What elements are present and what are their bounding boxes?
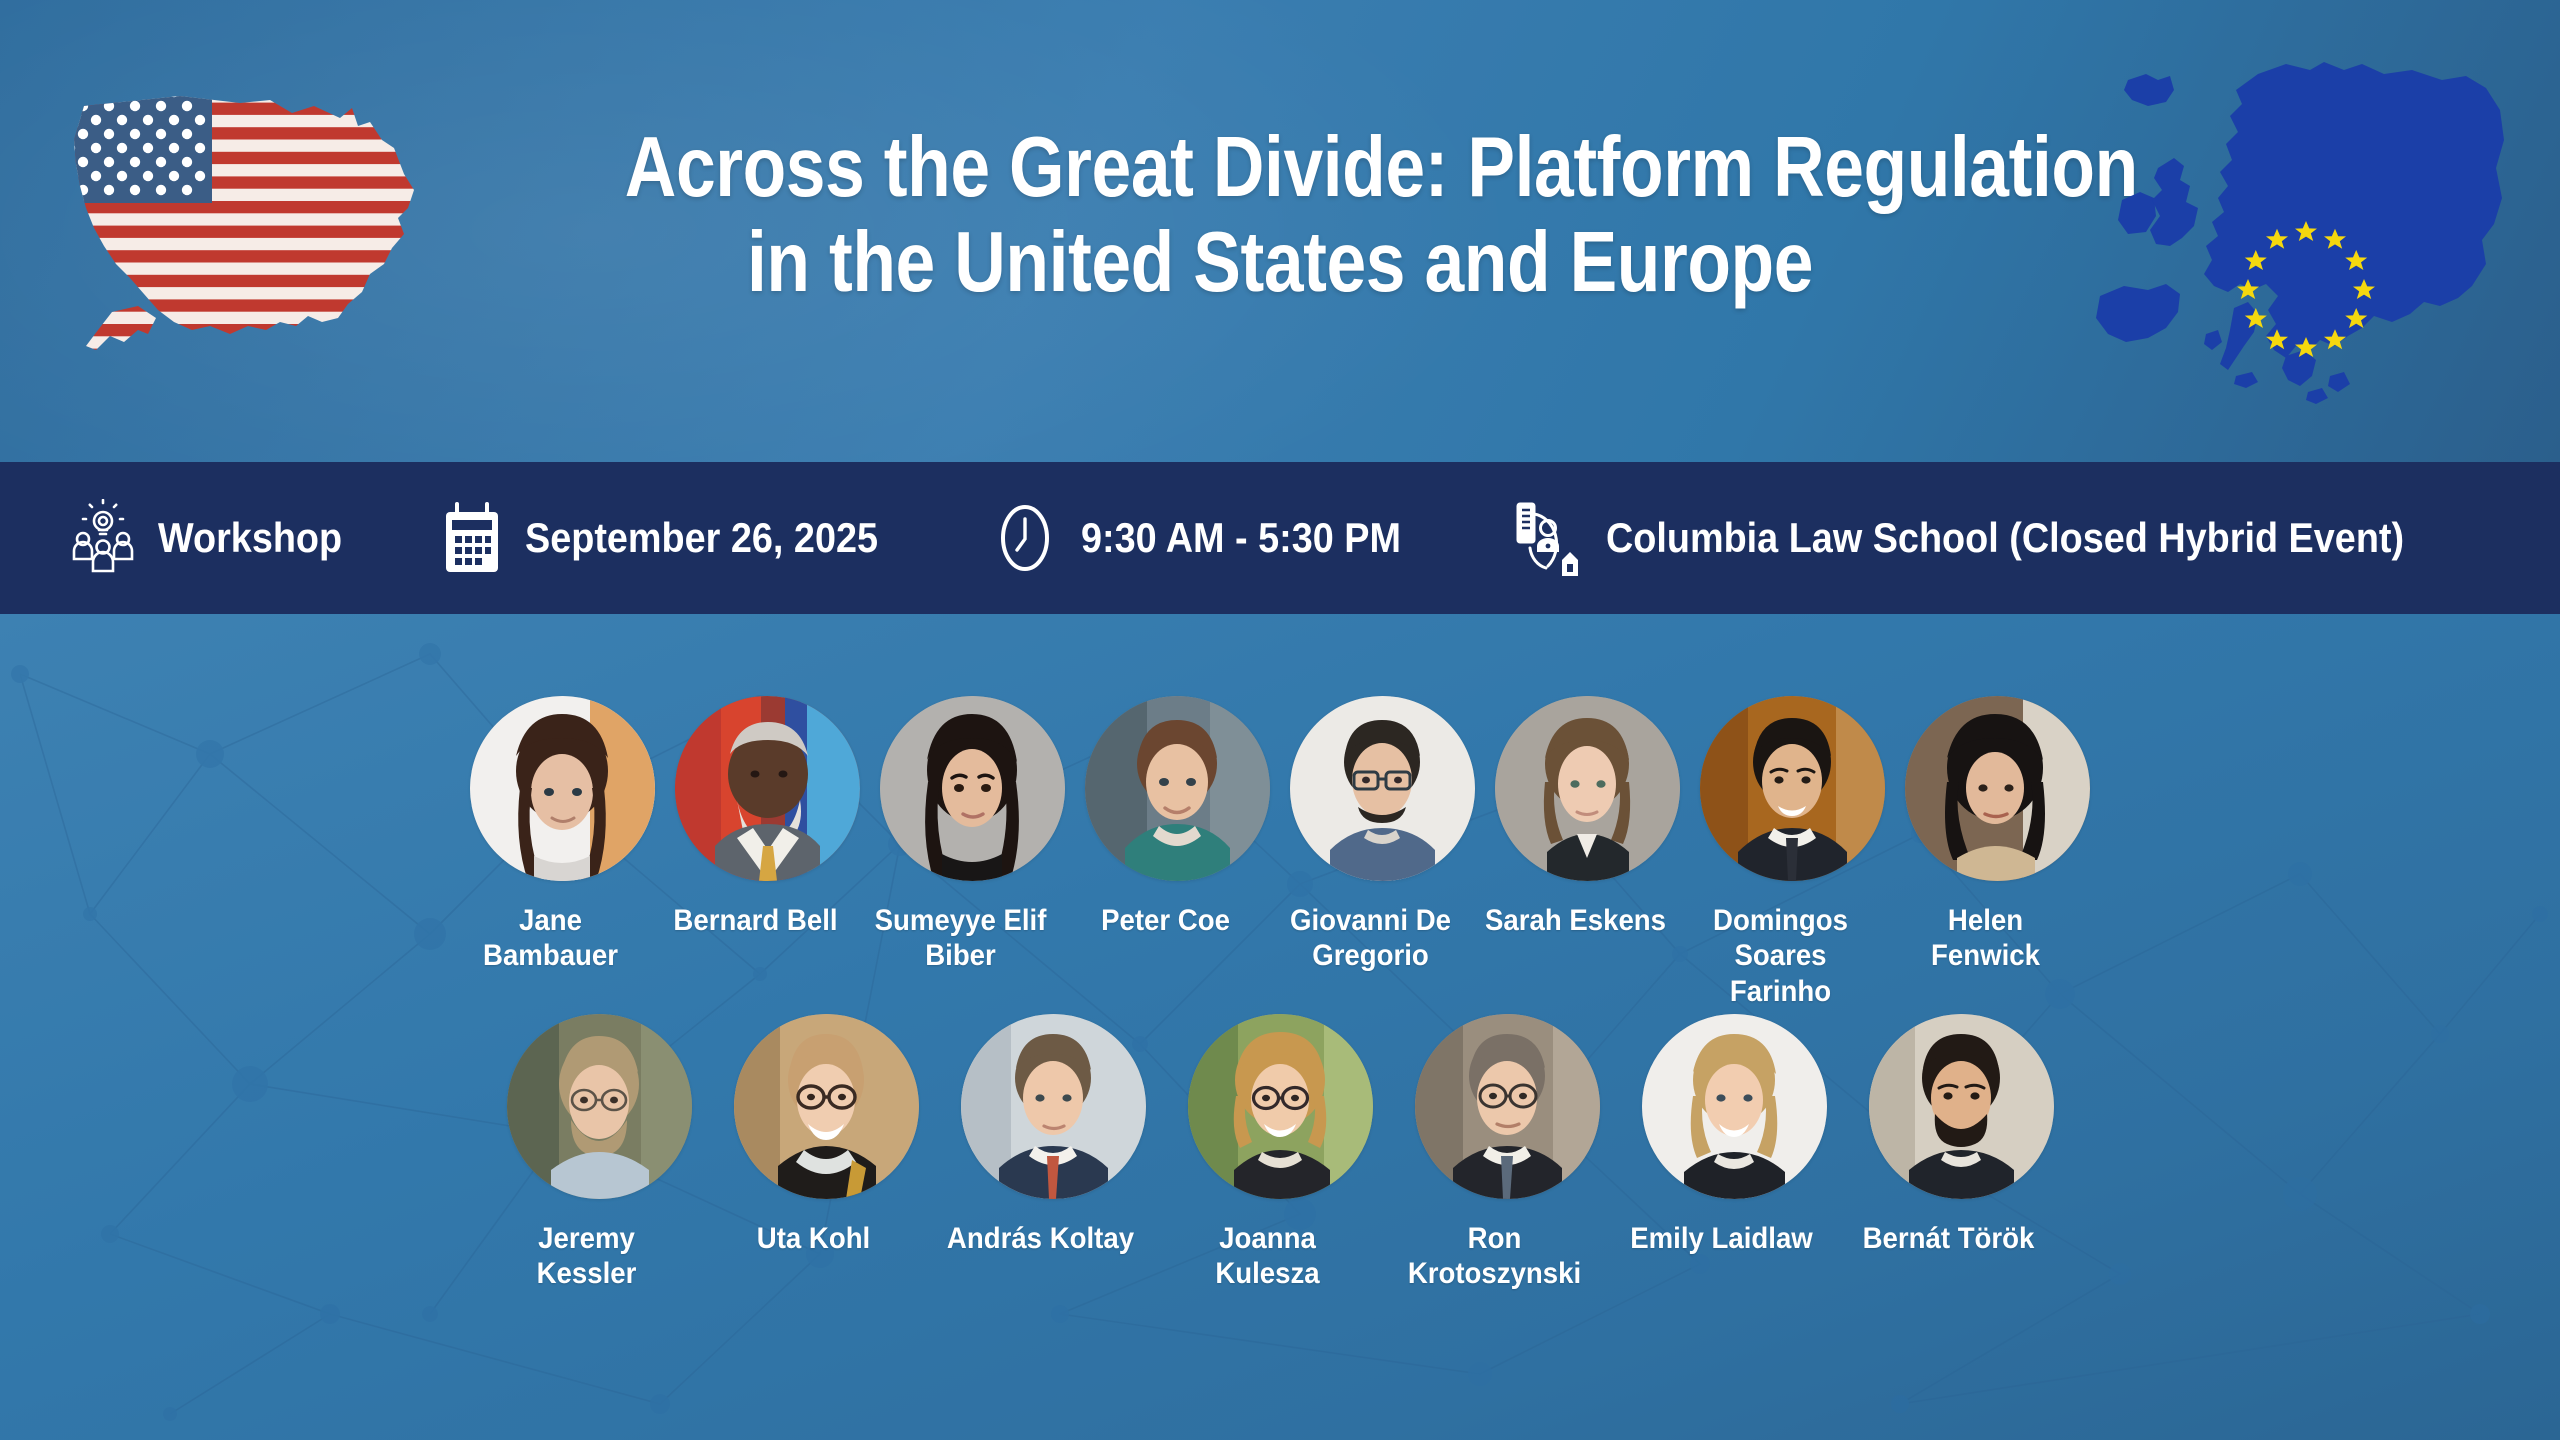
speaker-card[interactable]: Peter Coe xyxy=(1100,696,1255,938)
event-poster: Across the Great Divide: Platform Regula… xyxy=(0,0,2560,1440)
title-line-1: Across the Great Divide: Platform Regula… xyxy=(625,120,1935,215)
speaker-name: Sarah Eskens xyxy=(1481,903,1670,938)
avatar xyxy=(507,1014,692,1199)
info-label-date: September 26, 2025 xyxy=(525,514,878,562)
workshop-people-idea-icon xyxy=(70,499,136,577)
speaker-card[interactable]: Sarah Eskens xyxy=(1510,696,1665,938)
speaker-name: Bernard Bell xyxy=(661,903,850,938)
speaker-card[interactable]: Emily Laidlaw xyxy=(1657,1014,1812,1256)
title-line-2: in the United States and Europe xyxy=(625,215,1935,310)
info-item-date: September 26, 2025 xyxy=(441,500,917,576)
event-info-bar: Workshop Sep xyxy=(0,462,2560,614)
speaker-card[interactable]: Domingos Soares Farinho xyxy=(1715,696,1870,1009)
avatar xyxy=(1700,696,1885,881)
avatar xyxy=(1642,1014,1827,1199)
speaker-name: Bernát Török xyxy=(1854,1221,2043,1256)
speaker-name: Emily Laidlaw xyxy=(1627,1221,1816,1256)
speakers-section: Jane Bambauer xyxy=(0,614,2560,1440)
avatar xyxy=(734,1014,919,1199)
poster-title: Across the Great Divide: Platform Regula… xyxy=(500,120,2060,310)
speaker-name: Giovanni De Gregorio xyxy=(1276,903,1465,974)
speaker-name: Peter Coe xyxy=(1071,903,1260,938)
us-flag-map-icon xyxy=(52,78,432,388)
avatar xyxy=(675,696,860,881)
speaker-row-1: Jane Bambauer xyxy=(0,696,2560,1009)
info-item-location: Columbia Law School (Closed Hybrid Event… xyxy=(1510,498,2493,578)
speaker-name: Ron Krotoszynski xyxy=(1400,1221,1589,1292)
speaker-card[interactable]: Uta Kohl xyxy=(749,1014,904,1256)
avatar xyxy=(1905,696,2090,881)
speaker-card[interactable]: Jane Bambauer xyxy=(485,696,640,974)
speaker-row-2: Jeremy Kessler xyxy=(0,1014,2560,1292)
speaker-card[interactable]: Helen Fenwick xyxy=(1920,696,2075,974)
avatar xyxy=(1495,696,1680,881)
calendar-icon xyxy=(441,500,503,576)
speaker-name: Jeremy Kessler xyxy=(492,1221,681,1292)
avatar xyxy=(961,1014,1146,1199)
speaker-card[interactable]: Jeremy Kessler xyxy=(522,1014,677,1292)
speaker-name: András Koltay xyxy=(946,1221,1135,1256)
info-label-location: Columbia Law School (Closed Hybrid Event… xyxy=(1606,514,2404,562)
hybrid-event-location-icon xyxy=(1510,498,1584,578)
avatar xyxy=(880,696,1065,881)
speaker-name: Uta Kohl xyxy=(719,1221,908,1256)
speaker-card[interactable]: Joanna Kulesza xyxy=(1203,1014,1358,1292)
poster-header: Across the Great Divide: Platform Regula… xyxy=(0,0,2560,462)
avatar xyxy=(1869,1014,2054,1199)
speaker-name: Joanna Kulesza xyxy=(1173,1221,1362,1292)
speaker-card[interactable]: Bernard Bell xyxy=(690,696,845,938)
speaker-card[interactable]: Sumeyye Elif Biber xyxy=(895,696,1050,974)
speaker-card[interactable]: András Koltay xyxy=(976,1014,1131,1256)
speaker-name: Helen Fenwick xyxy=(1891,903,2080,974)
speaker-name: Domingos Soares Farinho xyxy=(1686,903,1875,1009)
info-label-time: 9:30 AM - 5:30 PM xyxy=(1081,514,1401,562)
info-item-workshop: Workshop xyxy=(70,499,363,577)
info-label-workshop: Workshop xyxy=(158,514,342,562)
speaker-card[interactable]: Giovanni De Gregorio xyxy=(1305,696,1460,974)
speaker-card[interactable]: Ron Krotoszynski xyxy=(1430,1014,1585,1292)
speaker-card[interactable]: Bernát Török xyxy=(1884,1014,2039,1256)
speaker-name: Sumeyye Elif Biber xyxy=(866,903,1055,974)
avatar xyxy=(470,696,655,881)
avatar xyxy=(1290,696,1475,881)
avatar xyxy=(1188,1014,1373,1199)
avatar xyxy=(1085,696,1270,881)
avatar xyxy=(1415,1014,1600,1199)
info-item-time: 9:30 AM - 5:30 PM xyxy=(991,501,1437,575)
eu-flag-map-icon xyxy=(2062,40,2532,440)
clock-icon xyxy=(991,501,1059,575)
speaker-name: Jane Bambauer xyxy=(456,903,645,974)
